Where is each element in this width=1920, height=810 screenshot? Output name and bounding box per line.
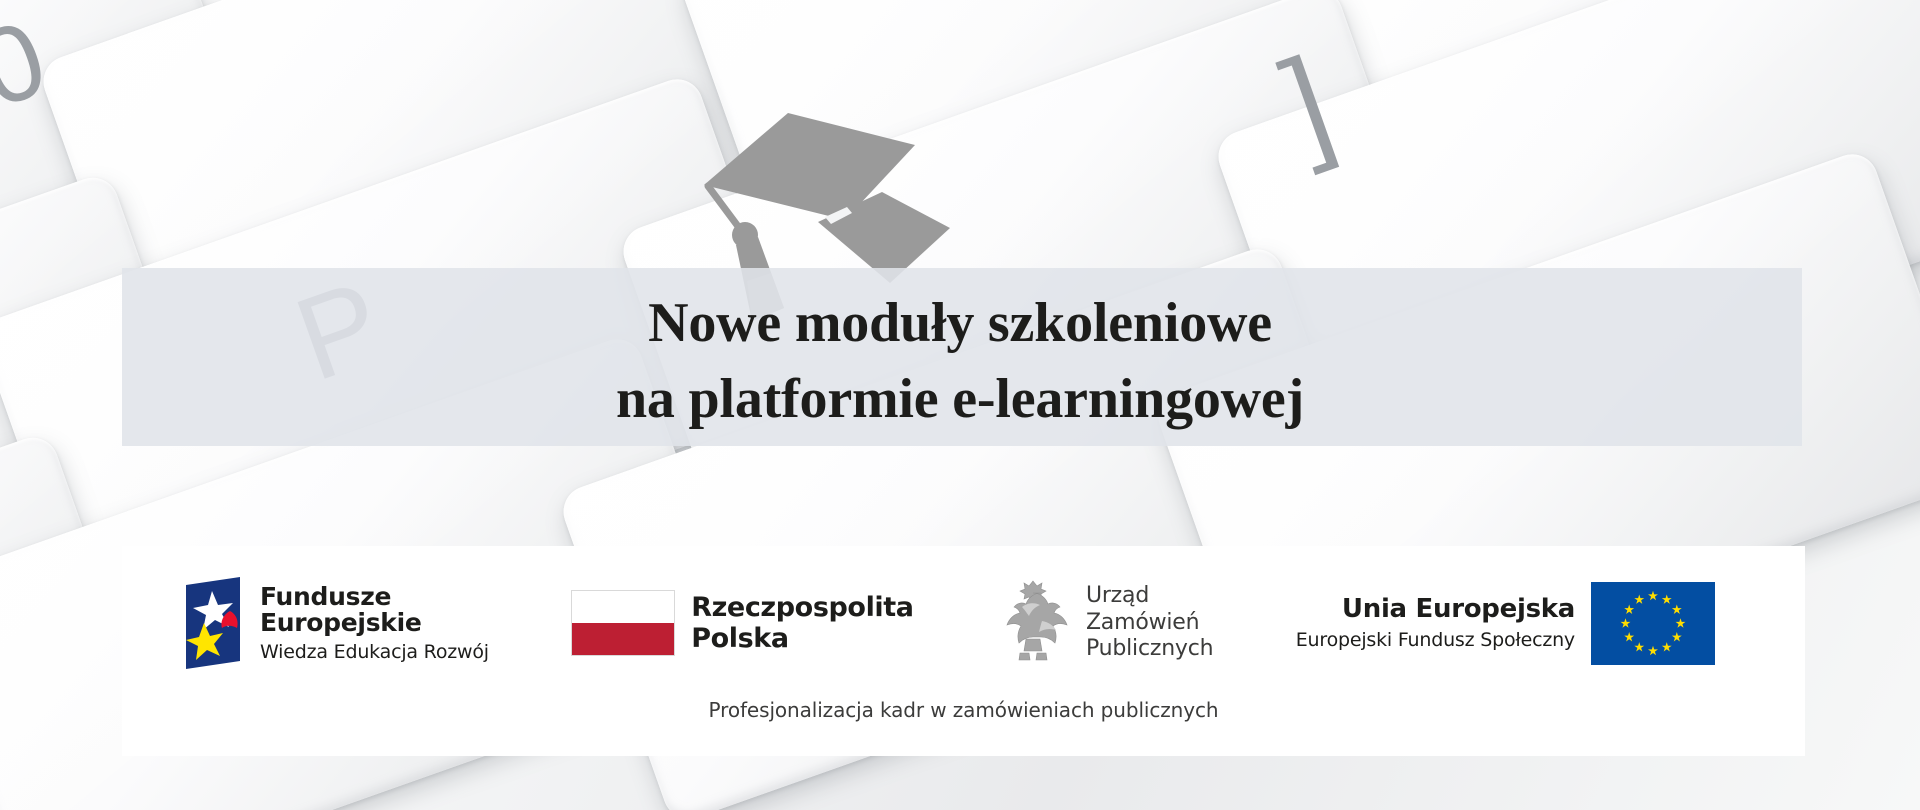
ue-subtitle: Europejski Fundusz Społeczny [1296,630,1575,651]
fe-subtitle: Wiedza Edukacja Rozwój [260,642,489,662]
project-tagline: Profesjonalizacja kadr w zamówieniach pu… [122,698,1805,722]
fe-title-line-2: Europejskie [260,610,489,637]
headline-line-1: Nowe moduły szkoleniowe [0,286,1920,362]
uzp-title-line-2: Zamówień [1086,610,1213,637]
polish-eagle-emblem-icon [996,577,1070,669]
banner-root: 0 P ] / Nowe moduły szkoleniowe na platf… [0,0,1920,810]
fe-title-line-1: Fundusze [260,584,489,611]
headline-line-2: na platformie e-learningowej [0,362,1920,438]
uzp-title-line-3: Publicznych [1086,636,1213,663]
logo-urzad-zamowien-publicznych: Urząd Zamówień Publicznych [996,577,1213,669]
unia-europejska-text: Unia Europejska Europejski Fundusz Społe… [1296,595,1575,651]
logo-rzeczpospolita-polska: Rzeczpospolita Polska [571,590,913,656]
fundusze-europejskie-text: Fundusze Europejskie Wiedza Edukacja Roz… [260,584,489,662]
urzad-zamowien-publicznych-text: Urząd Zamówień Publicznych [1086,583,1213,663]
european-union-flag-icon [1591,582,1715,665]
uzp-title-line-1: Urząd [1086,583,1213,610]
polish-flag-icon [571,590,675,656]
page-title: Nowe moduły szkoleniowe na platformie e-… [0,286,1920,437]
logo-row: Fundusze Europejskie Wiedza Edukacja Roz… [122,568,1805,678]
rp-title-line-2: Polska [691,623,913,654]
logo-footer-strip: Fundusze Europejskie Wiedza Edukacja Roz… [122,546,1805,756]
ue-title: Unia Europejska [1296,595,1575,624]
rp-title-line-1: Rzeczpospolita [691,592,913,623]
logo-unia-europejska: Unia Europejska Europejski Fundusz Społe… [1296,582,1715,665]
fundusze-europejskie-star-mark [182,577,244,669]
rzeczpospolita-polska-text: Rzeczpospolita Polska [691,592,913,655]
logo-fundusze-europejskie: Fundusze Europejskie Wiedza Edukacja Roz… [182,577,489,669]
